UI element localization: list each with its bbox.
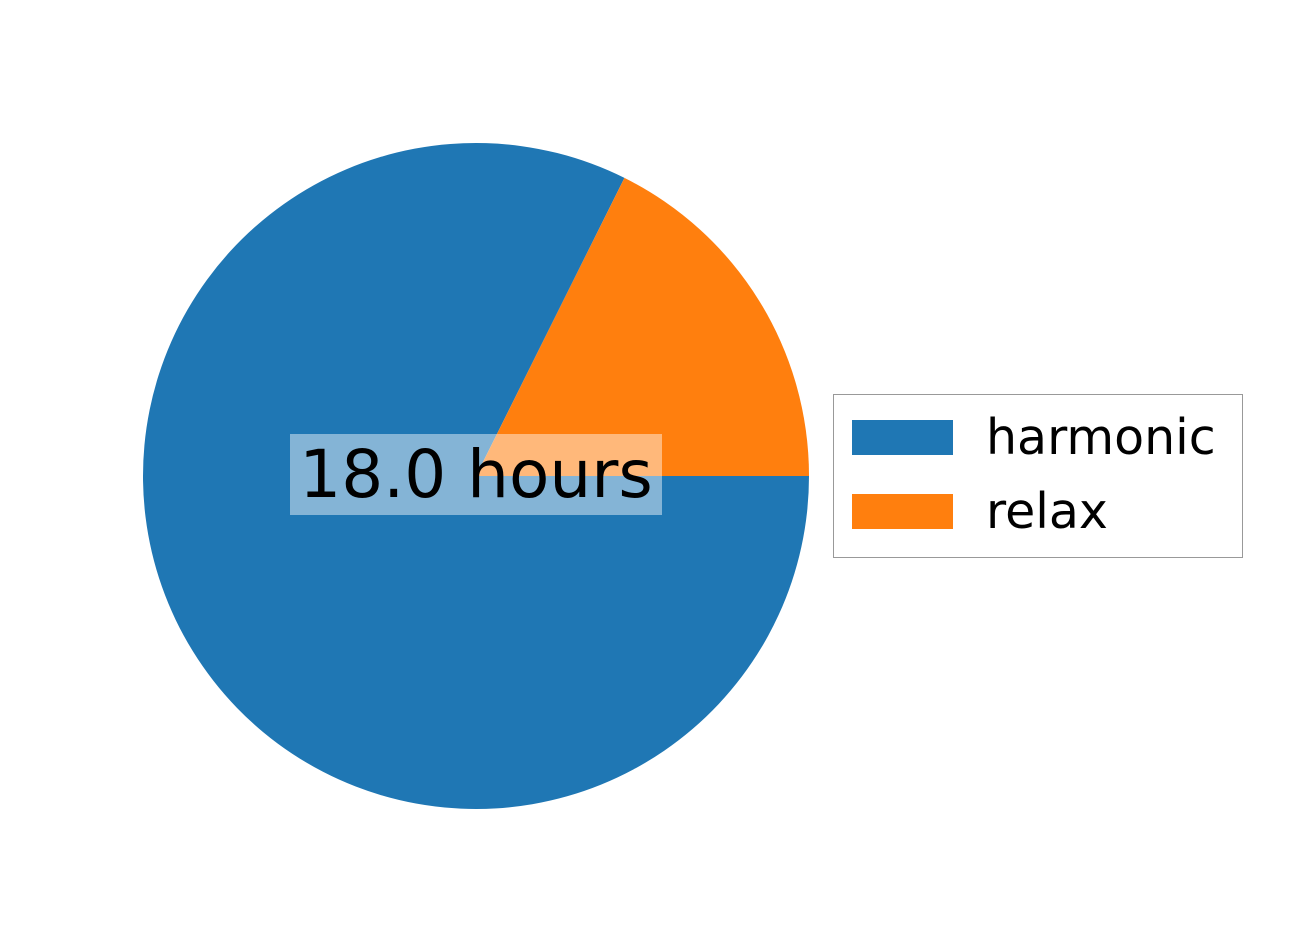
pie-center-value-text: 18.0 hours <box>299 442 653 508</box>
chart-legend: harmonic relax <box>833 394 1243 558</box>
legend-label-harmonic: harmonic <box>986 413 1216 462</box>
legend-swatch-relax <box>852 494 953 529</box>
legend-item-relax[interactable]: relax <box>834 486 1242 536</box>
legend-swatch-harmonic <box>852 420 953 455</box>
pie-center-value-label: 18.0 hours <box>290 434 662 515</box>
figure-canvas: 18.0 hours harmonic relax <box>0 0 1307 951</box>
legend-label-relax: relax <box>986 487 1108 536</box>
legend-item-harmonic[interactable]: harmonic <box>834 412 1242 462</box>
